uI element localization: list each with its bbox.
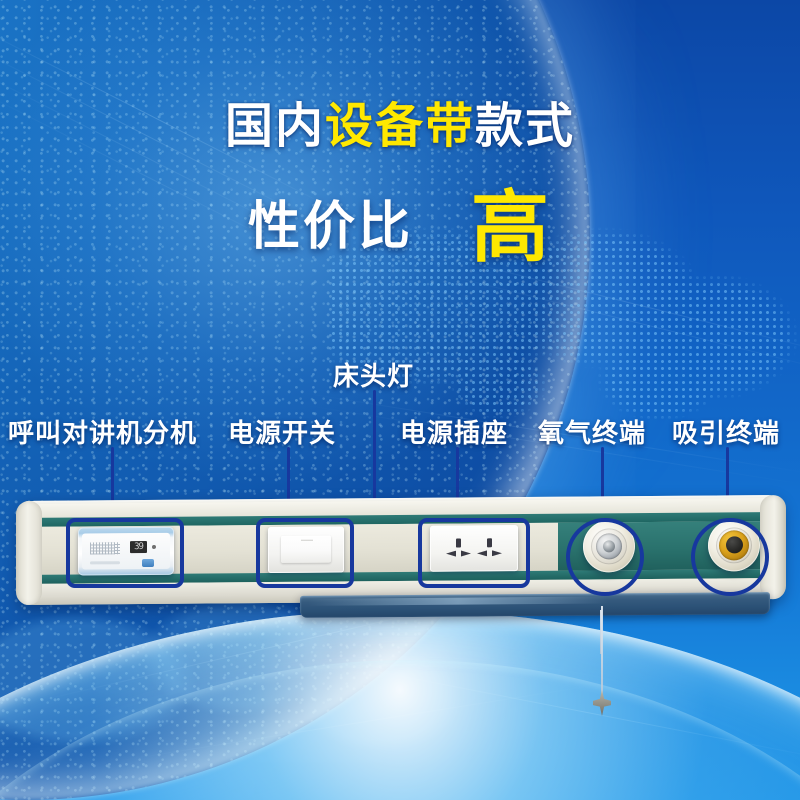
callout-label-bed-lamp: 床头灯 — [333, 356, 414, 393]
bed-lamp-diffuser — [300, 592, 770, 618]
highlight-box-power-switch — [256, 518, 354, 588]
callout-label-intercom: 呼叫对讲机分机 — [8, 413, 197, 450]
callout-label-power-socket: 电源插座 — [400, 413, 508, 450]
highlight-box-intercom — [66, 518, 184, 588]
highlight-circle-suction — [691, 518, 769, 596]
callout-label-power-switch: 电源开关 — [228, 413, 336, 450]
highlight-circle-oxygen — [566, 518, 644, 596]
pull-cord-suction[interactable] — [601, 606, 603, 698]
highlight-box-power-socket — [418, 518, 530, 588]
panel-end-cap-left — [16, 501, 42, 605]
callout-label-oxygen: 氧气终端 — [538, 413, 646, 450]
bed-lamp-highlight — [308, 596, 608, 605]
product-banner: 国内设备带款式 性价比高 呼叫对讲机分机 电源开关 床头灯 电源插座 氧气终端 … — [0, 0, 800, 800]
callout-label-suction: 吸引终端 — [672, 413, 780, 450]
